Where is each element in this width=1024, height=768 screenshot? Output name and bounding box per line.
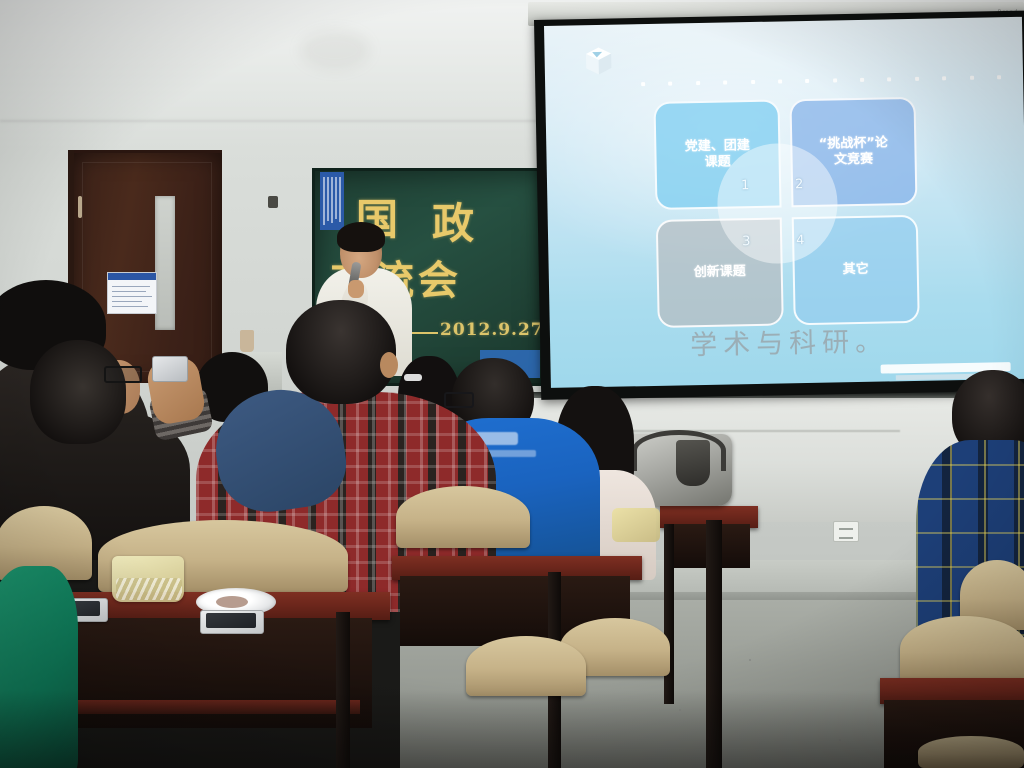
cup	[240, 330, 254, 352]
quadrant-4-number: 4	[796, 233, 805, 248]
wall-hook	[268, 196, 278, 208]
quadrant-3-number: 3	[742, 234, 751, 249]
classroom-photo: 国 政 交流会 2012.9.27 Brand 党建、团建 课题 “挑战杯”论 …	[0, 0, 1024, 768]
earphone-coil-center	[216, 596, 248, 608]
handbag-flap	[676, 440, 710, 486]
evacuation-plan-sign	[107, 272, 157, 314]
quadrant-4-label: 其它	[843, 262, 869, 279]
phone-camera	[152, 356, 188, 382]
chair-back	[900, 616, 1024, 682]
quadrant-2-label: “挑战杯”论 文竞赛	[819, 135, 889, 169]
blackboard-date: 2012.9.27	[440, 320, 544, 340]
foreground-shadow	[0, 690, 1024, 768]
hair-band	[404, 374, 422, 381]
plaid-hoodie-student-head	[286, 300, 396, 404]
cube-icon	[580, 43, 617, 80]
slide-quadrant-diagram: 党建、团建 课题 “挑战杯”论 文竞赛 创新课题 其它 1 2 3 4	[653, 97, 919, 324]
quadrant-3-label: 创新课题	[694, 264, 746, 281]
quadrant-2-number: 2	[795, 177, 804, 192]
speaker-hair	[337, 222, 385, 252]
quadrant-1-number: 1	[741, 178, 750, 193]
glasses	[444, 392, 474, 408]
chair-back	[466, 636, 586, 696]
blackboard-poster	[320, 172, 344, 230]
glasses-student-head	[30, 340, 126, 444]
blackboard-dash	[412, 332, 438, 334]
wall-smudge	[300, 30, 370, 70]
wall-seam	[0, 120, 560, 122]
door-handle	[78, 196, 82, 218]
door-glass-panel	[155, 196, 175, 330]
glasses	[104, 366, 142, 383]
snack-bag-second	[612, 508, 660, 542]
chair-back	[396, 486, 530, 548]
snack-bag-crinkle	[116, 578, 182, 600]
second-phone-screen	[206, 613, 256, 628]
speaker-hand	[348, 280, 364, 298]
ear	[380, 352, 398, 378]
blackboard-char-2: 政	[432, 190, 474, 251]
wall-crack	[600, 430, 900, 432]
power-outlet	[833, 521, 859, 542]
side-desk-leg	[664, 524, 674, 704]
projection-screen: 党建、团建 课题 “挑战杯”论 文竞赛 创新课题 其它 1 2 3 4 学术与科…	[544, 17, 1024, 388]
